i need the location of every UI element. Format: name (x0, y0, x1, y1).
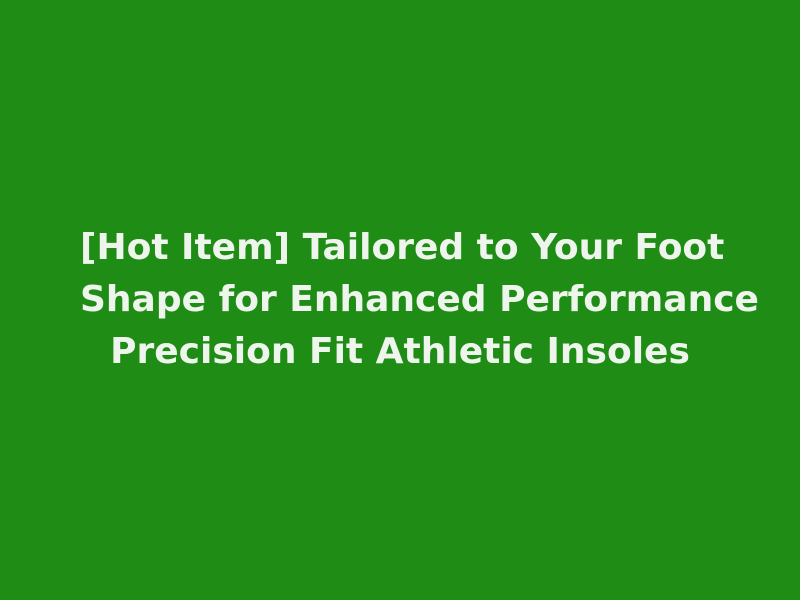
page-title-line-3: Precision Fit Athletic Insoles (80, 326, 720, 378)
page-title: [Hot Item] Tailored to Your Foot Shape f… (80, 222, 720, 378)
product-title-banner: [Hot Item] Tailored to Your Foot Shape f… (0, 0, 800, 600)
page-title-line-1: [Hot Item] Tailored to Your Foot (80, 222, 720, 274)
page-title-line-2: Shape for Enhanced Performance (80, 274, 720, 326)
